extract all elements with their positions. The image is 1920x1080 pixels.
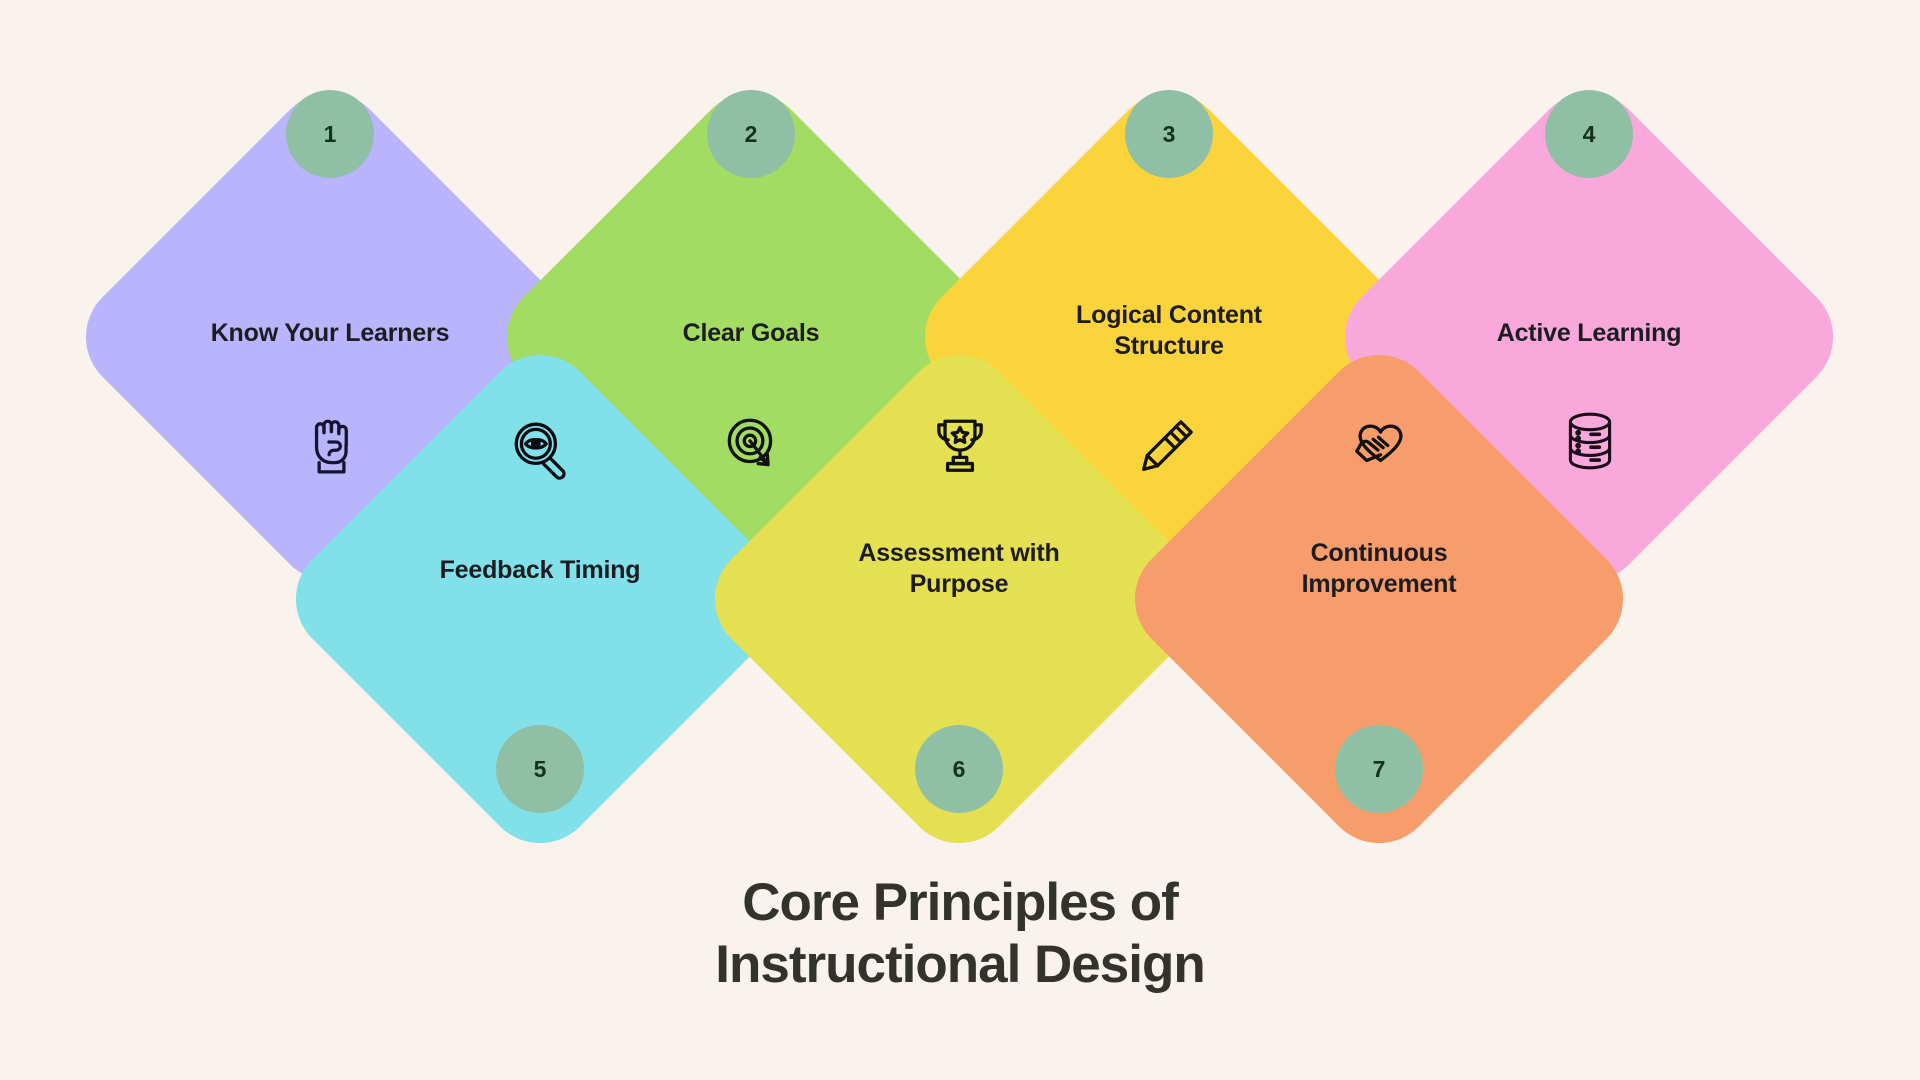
node-label: Feedback Timing bbox=[390, 555, 690, 586]
node-label: Continuous Improvement bbox=[1229, 538, 1529, 599]
badge-number: 1 bbox=[324, 121, 337, 148]
badge-3: 3 bbox=[1125, 90, 1213, 178]
node-label: Clear Goals bbox=[601, 318, 901, 349]
badge-number: 6 bbox=[953, 756, 966, 783]
pencil-icon bbox=[1137, 410, 1203, 476]
badge-5: 5 bbox=[496, 725, 584, 813]
badge-4: 4 bbox=[1545, 90, 1633, 178]
badge-7: 7 bbox=[1335, 725, 1423, 813]
badge-number: 3 bbox=[1163, 121, 1176, 148]
badge-number: 7 bbox=[1373, 756, 1386, 783]
target-arrow-icon bbox=[718, 412, 784, 478]
node-label: Assessment with Purpose bbox=[809, 538, 1109, 599]
node-label: Know Your Learners bbox=[180, 318, 480, 349]
magnifier-eye-icon bbox=[508, 418, 574, 484]
hand-heart-icon bbox=[1347, 412, 1413, 478]
infographic-canvas: Know Your Learners 1 Clear Goals 2 bbox=[0, 0, 1920, 1080]
badge-number: 5 bbox=[534, 756, 547, 783]
trophy-icon bbox=[927, 412, 993, 478]
raised-fist-icon bbox=[298, 410, 364, 476]
badge-number: 2 bbox=[745, 121, 758, 148]
badge-2: 2 bbox=[707, 90, 795, 178]
badge-6: 6 bbox=[915, 725, 1003, 813]
node-label: Logical Content Structure bbox=[1019, 300, 1319, 361]
badge-1: 1 bbox=[286, 90, 374, 178]
database-stack-icon bbox=[1557, 408, 1623, 474]
badge-number: 4 bbox=[1583, 121, 1596, 148]
page-title: Core Principles of Instructional Design bbox=[0, 872, 1920, 996]
node-label: Active Learning bbox=[1439, 318, 1739, 349]
